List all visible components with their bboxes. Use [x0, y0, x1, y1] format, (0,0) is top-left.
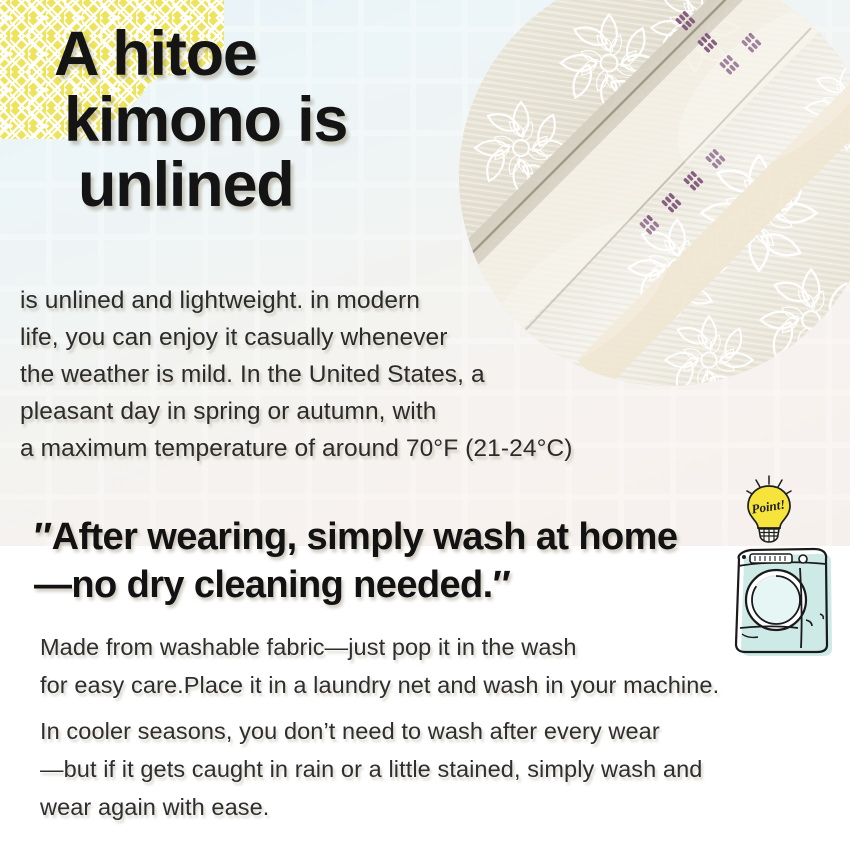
intro-paragraph: is unlined and lightweight. in modern li…: [20, 282, 710, 467]
body-p2-line-3: wear again with ease.: [40, 788, 830, 826]
pull-quote-line-2: —no dry cleaning needed.″: [34, 561, 754, 609]
body-copy: Made from washable fabric—just pop it in…: [40, 628, 830, 834]
body-paragraph-1: Made from washable fabric—just pop it in…: [40, 628, 830, 704]
poster-canvas: A hitoe kimono is unlined is unlined and…: [0, 0, 850, 850]
page-title: A hitoe kimono is unlined: [54, 22, 474, 219]
intro-line-5: a maximum temperature of around 70°F (21…: [20, 430, 710, 467]
pull-quote-line-1: ″After wearing, simply wash at home: [34, 513, 754, 561]
intro-line-4: pleasant day in spring or autumn, with: [20, 393, 710, 430]
pull-quote: ″After wearing, simply wash at home —no …: [34, 513, 754, 609]
body-paragraph-2: In cooler seasons, you don’t need to was…: [40, 712, 830, 826]
headline-line-1: A hitoe: [54, 22, 474, 88]
body-p1-line-2: for easy care.Place it in a laundry net …: [40, 666, 830, 704]
body-p2-line-1: In cooler seasons, you don’t need to was…: [40, 712, 830, 750]
intro-line-2: life, you can enjoy it casually whenever: [20, 319, 710, 356]
body-p1-line-1: Made from washable fabric—just pop it in…: [40, 628, 830, 666]
headline-line-3: unlined: [54, 153, 474, 219]
intro-line-1: is unlined and lightweight. in modern: [20, 282, 710, 319]
body-p2-line-2: —but if it gets caught in rain or a litt…: [40, 750, 830, 788]
headline-line-2: kimono is: [54, 88, 474, 154]
intro-line-3: the weather is mild. In the United State…: [20, 356, 710, 393]
